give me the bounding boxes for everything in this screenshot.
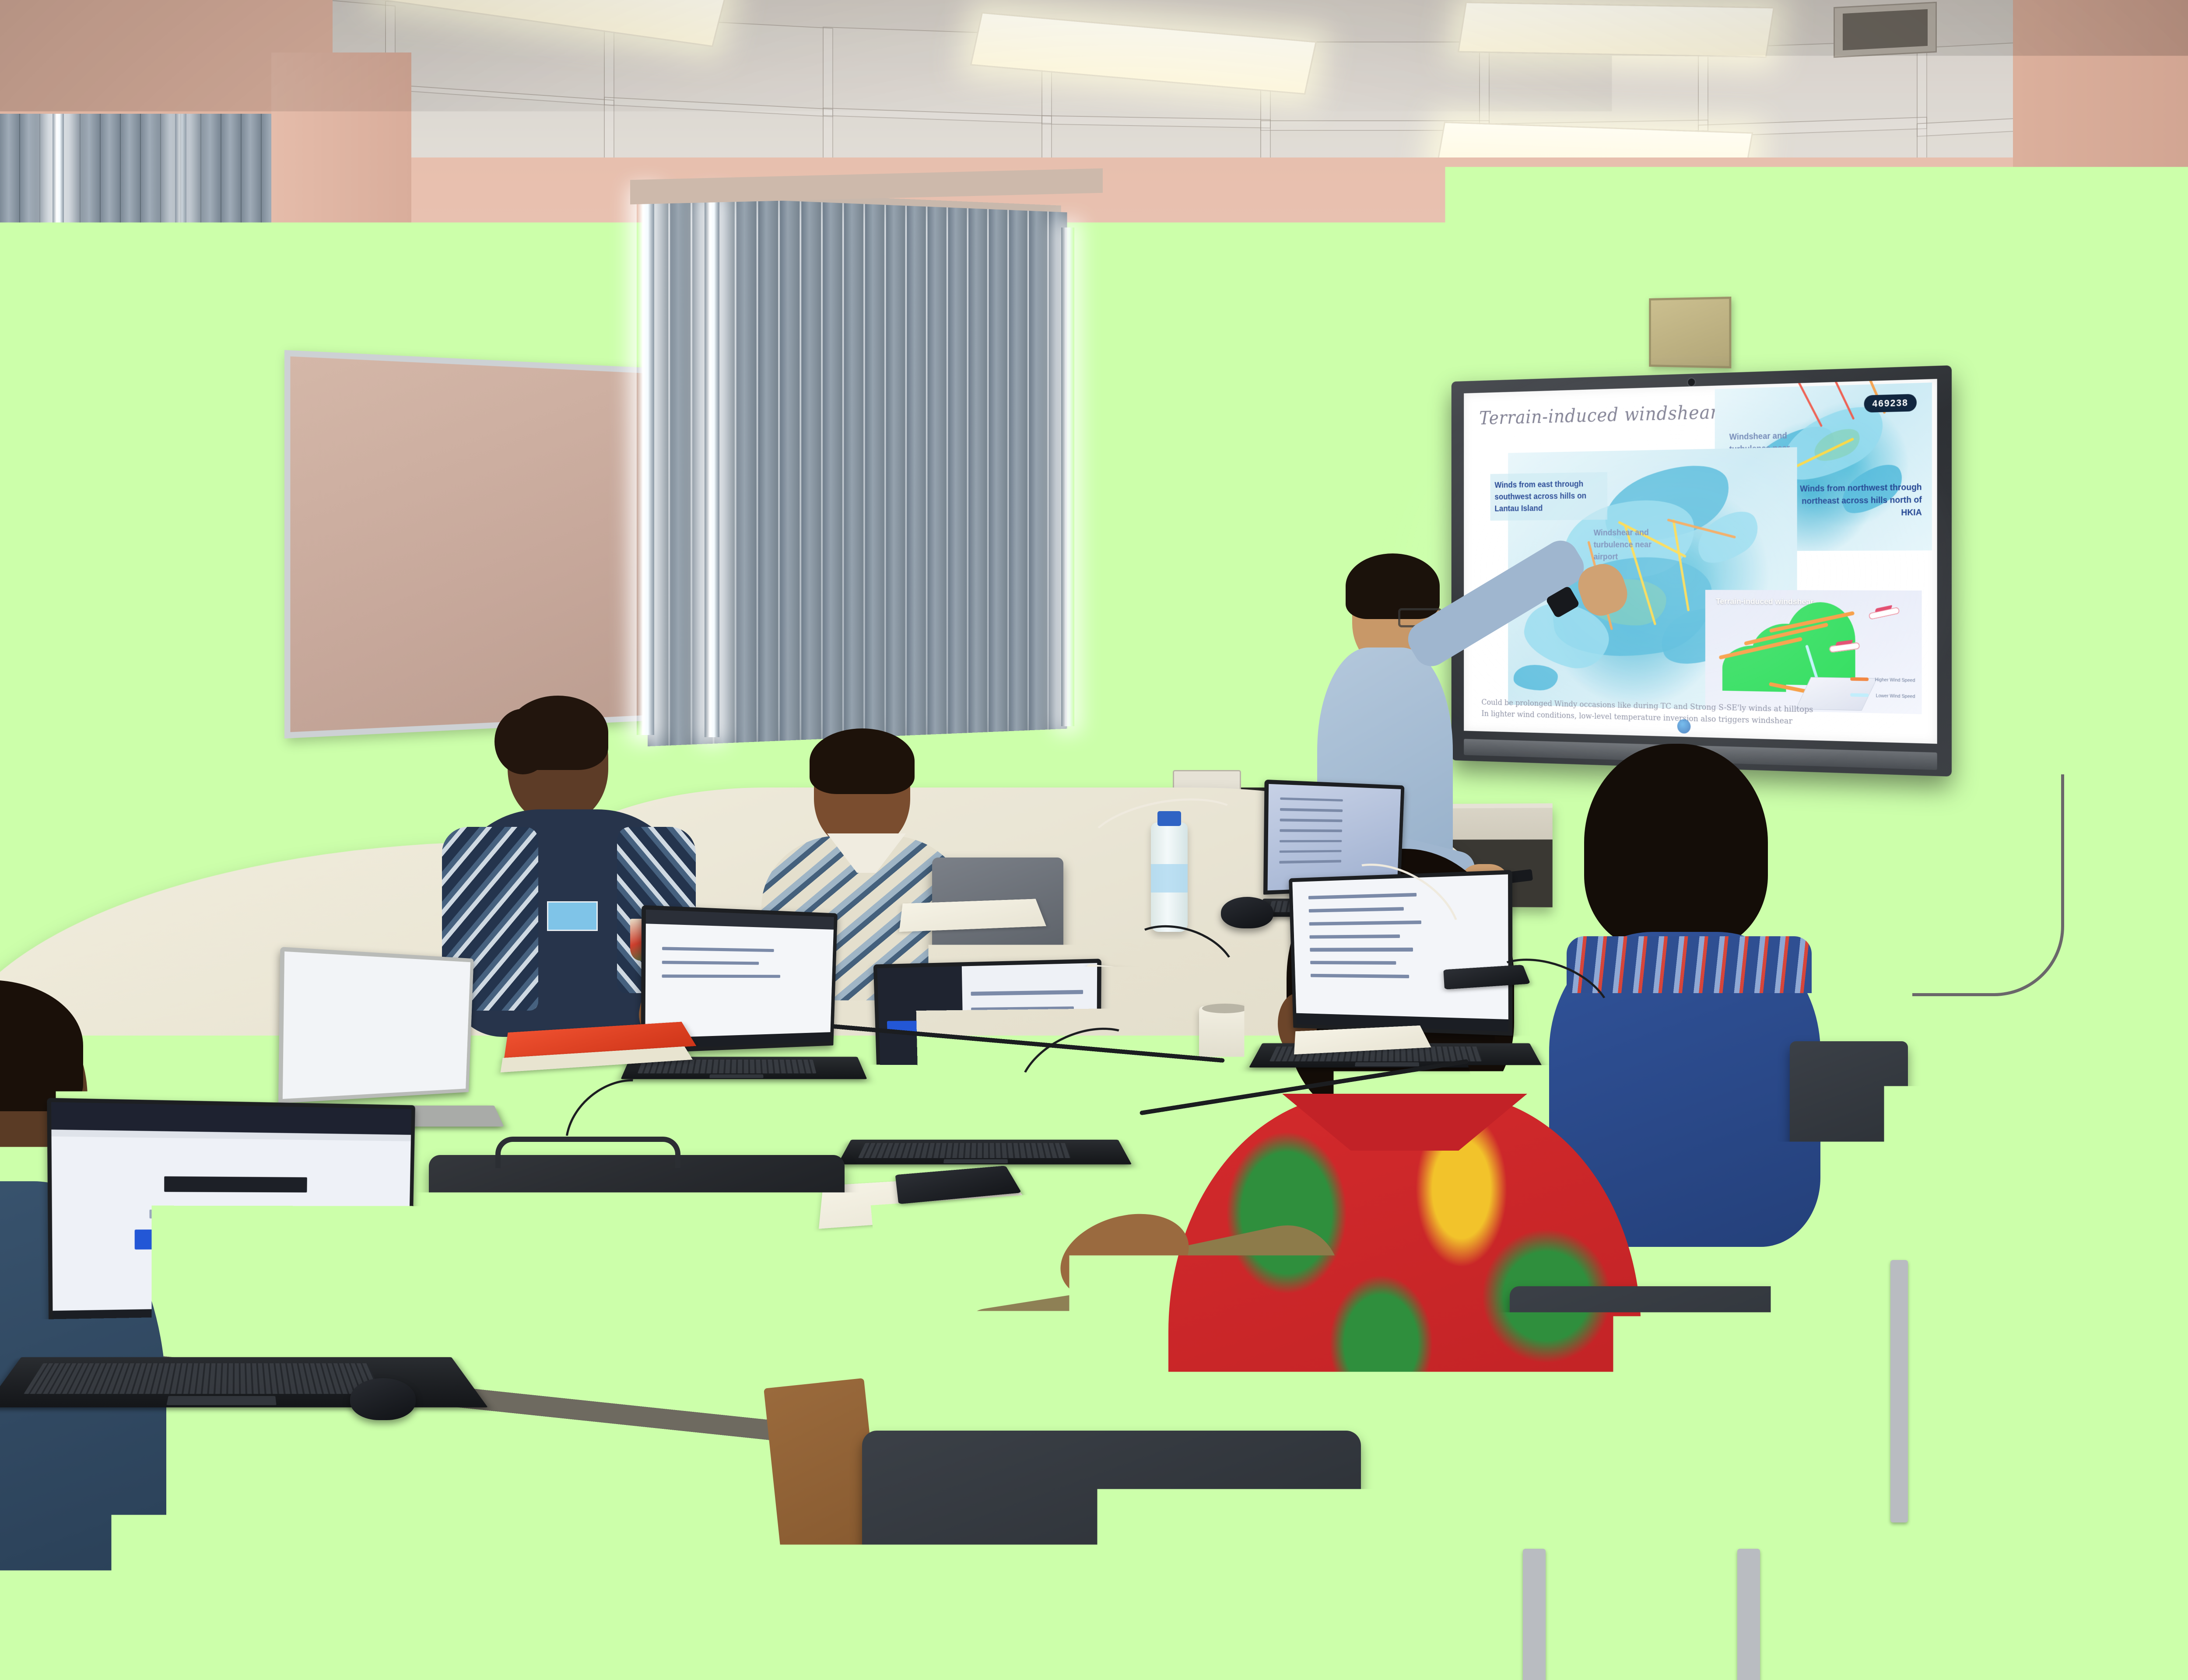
window-light-gap: [705, 199, 719, 737]
inset-diagram-title: Terrain-induced windshear: [1716, 597, 1813, 607]
ceiling-light: [1458, 2, 1774, 58]
attendee-4-hair: [1584, 744, 1768, 949]
window-sill: [2052, 709, 2188, 751]
slide-inset-diagram: Terrain-induced windshear Higher Wind Sp…: [1705, 590, 1922, 714]
attendee-1-flag-patch: [547, 901, 598, 931]
slide-badge: 469238: [1864, 394, 1917, 413]
window-light-gap: [637, 192, 654, 735]
laptop-far-left-screen: [283, 952, 470, 1099]
noticeboard: [284, 350, 674, 738]
attendee-4-yoke: [1567, 936, 1812, 993]
organisation-logo-icon: [1677, 719, 1690, 733]
laptop-foreground-screen: [51, 1102, 411, 1329]
slide-callout-left: Winds from east through southwest across…: [1490, 472, 1607, 521]
wall-speaker: [1649, 297, 1731, 368]
attendee-2-hair: [810, 728, 915, 794]
slide-callout-right: Winds from northwest through northeast a…: [1787, 481, 1922, 520]
legend-label-low: Lower Wind Speed: [1876, 693, 1915, 700]
window-light-gap: [1061, 227, 1074, 726]
right-window-venetian-blinds: [2057, 289, 2188, 766]
computer-mouse[interactable]: [350, 1378, 416, 1420]
room-photo: Terrain-induced windshear & turbulence W…: [0, 0, 2188, 1680]
legend-label-high: Higher Wind Speed: [1875, 677, 1915, 683]
green-device: [708, 1057, 781, 1078]
slide-callout-near-airport: Windshear and turbulence near airport: [1594, 527, 1668, 563]
aircraft-icon: [1868, 607, 1900, 620]
webcam-icon: [1687, 378, 1696, 387]
display-power-cable: [1912, 774, 2064, 996]
papers: [899, 899, 1046, 932]
computer-mouse-back[interactable]: [1221, 897, 1273, 928]
attendee-1-hair: [508, 696, 608, 770]
backpack: [429, 1155, 845, 1369]
ceiling-vent: [1834, 2, 1937, 58]
